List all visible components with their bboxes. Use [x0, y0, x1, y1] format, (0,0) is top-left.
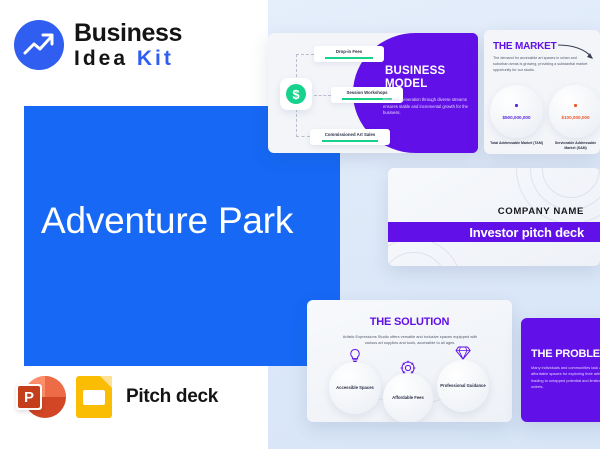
market-metrics: $500,000,000 $100,000,000	[490, 85, 600, 138]
company-name-text: COMPANY NAME	[498, 206, 584, 217]
solution-title: THE SOLUTION	[307, 316, 512, 328]
market-metric-sam: $100,000,000	[549, 85, 600, 138]
solution-item-label: Affordable Fees	[392, 395, 424, 401]
brand-line-business: Business	[74, 21, 182, 46]
metric-label: Serviceable Addressable Market (SAM)	[549, 141, 600, 151]
brand-word-kit: Kit	[137, 47, 174, 70]
slide-card-company-name[interactable]: COMPANY NAME Investor pitch deck	[388, 168, 600, 266]
revenue-stream-item[interactable]: Commissioned Art Sales	[310, 129, 390, 145]
powerpoint-icon: P	[16, 374, 62, 420]
solution-item-label: Accessible Spaces	[336, 385, 374, 391]
connector-middle	[314, 95, 331, 96]
brand-lockup: Business Idea Kit	[14, 20, 182, 70]
revenue-stream-label: Commissioned Art Sales	[325, 132, 375, 137]
business-model-body: Revenue generation through diverse strea…	[383, 97, 469, 117]
market-body: The demand for accessible art spaces in …	[493, 56, 590, 74]
business-model-purple-edge	[416, 33, 478, 153]
problem-title: THE PROBLEM	[531, 348, 600, 360]
solution-item[interactable]: Accessible Spaces	[329, 362, 381, 414]
pitch-deck-label: Pitch deck	[126, 386, 218, 408]
investor-pitch-text: Investor pitch deck	[469, 225, 584, 240]
dollar-coin-icon: $	[280, 78, 312, 110]
metric-label: Total Addressable Market (TAM)	[490, 141, 543, 146]
solution-body: Artistic Expressions Studio offers versa…	[339, 334, 481, 347]
connector-bottom	[296, 136, 310, 137]
slide-card-problem[interactable]: THE PROBLEM Many individuals and communi…	[521, 318, 600, 422]
metric-value: $500,000,000	[502, 115, 530, 120]
business-model-title: BUSINESS MODEL	[385, 65, 469, 91]
solution-item[interactable]: Affordable Fees	[383, 373, 433, 422]
connector-top	[296, 54, 314, 55]
problem-body: Many individuals and communities lack ac…	[531, 365, 600, 390]
slide-card-solution[interactable]: THE SOLUTION Artistic Expressions Studio…	[307, 300, 512, 422]
metric-value: $100,000,000	[561, 115, 589, 120]
slide-card-market[interactable]: THE MARKET The demand for accessible art…	[484, 30, 600, 154]
investor-pitch-band: Investor pitch deck	[388, 222, 600, 242]
revenue-stream-label: Session Workshops	[347, 90, 388, 95]
revenue-stream-label: Drop-in Fees	[336, 49, 362, 54]
format-footer: P Pitch deck	[16, 374, 218, 420]
poster-canvas: Adventure Park Business Idea Kit $ Drop-…	[0, 0, 600, 449]
slide-card-business-model[interactable]: $ Drop-in Fees Session Workshops Commiss…	[268, 33, 478, 153]
market-title: THE MARKET	[493, 41, 557, 52]
solution-item[interactable]: Professional Guidance	[437, 360, 489, 412]
brand-line-idea-kit: Idea Kit	[74, 48, 182, 69]
market-metric-tam: $500,000,000	[490, 85, 543, 138]
trend-arrow-icon	[14, 20, 64, 70]
solution-item-label: Professional Guidance	[440, 383, 485, 389]
page-title: Adventure Park	[41, 200, 293, 242]
revenue-stream-item[interactable]: Drop-in Fees	[314, 46, 384, 62]
brand-word-idea: Idea	[74, 47, 137, 70]
google-slides-icon	[72, 374, 116, 420]
